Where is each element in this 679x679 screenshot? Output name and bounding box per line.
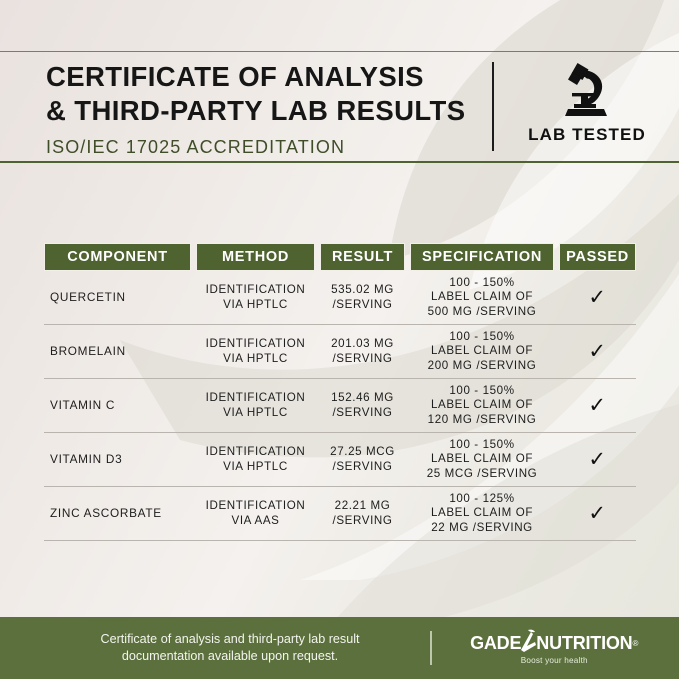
header-vertical-divider [492, 62, 494, 151]
analysis-results-table: COMPONENT METHOD RESULT SPECIFICATION PA… [44, 243, 636, 541]
cell-component: ZINC ASCORBATE [44, 487, 191, 541]
running-figure-icon [518, 629, 538, 653]
cell-method: IDENTIFICATION VIA HPTLC [196, 433, 315, 487]
page-title-line-2: & THIRD-PARTY LAB RESULTS [46, 94, 476, 128]
cell-result-line-1: 201.03 MG [331, 337, 394, 352]
cell-method: IDENTIFICATION VIA HPTLC [196, 271, 315, 325]
column-header-method: METHOD [196, 243, 315, 271]
table-row: QUERCETIN IDENTIFICATION VIA HPTLC 535.0… [44, 271, 636, 325]
cell-specification: 100 - 125% LABEL CLAIM OF 22 MG /SERVING [410, 487, 554, 541]
cell-component: BROMELAIN [44, 325, 191, 379]
cell-result-line-2: /SERVING [331, 298, 394, 313]
cell-result-line-1: 152.46 MG [331, 391, 394, 406]
cell-spec-line-2: LABEL CLAIM OF [428, 344, 537, 359]
cell-spec-line-2: LABEL CLAIM OF [431, 506, 533, 521]
cell-spec-line-2: LABEL CLAIM OF [427, 452, 538, 467]
cell-method-line-2: VIA HPTLC [206, 298, 306, 313]
check-icon: ✓ [588, 341, 606, 362]
cell-spec-line-1: 100 - 125% [431, 492, 533, 507]
cell-result-line-1: 22.21 MG [333, 499, 393, 514]
cell-specification: 100 - 150% LABEL CLAIM OF 25 MCG /SERVIN… [410, 433, 554, 487]
check-icon: ✓ [588, 503, 606, 524]
cell-result: 27.25 MCG /SERVING [320, 433, 405, 487]
cell-passed: ✓ [559, 379, 636, 433]
cell-method-line-1: IDENTIFICATION [206, 283, 306, 298]
cell-spec-line-1: 100 - 150% [428, 276, 537, 291]
cell-method-line-2: VIA HPTLC [206, 460, 306, 475]
table-header-row: COMPONENT METHOD RESULT SPECIFICATION PA… [44, 243, 636, 271]
cell-method-line-2: VIA HPTLC [206, 352, 306, 367]
cell-method-line-2: VIA AAS [206, 514, 306, 529]
certificate-page: CERTIFICATE OF ANALYSIS & THIRD-PARTY LA… [0, 0, 679, 679]
column-header-component: COMPONENT [44, 243, 191, 271]
cell-spec-line-3: 500 MG /SERVING [428, 305, 537, 320]
cell-result-line-2: /SERVING [331, 352, 394, 367]
cell-passed: ✓ [559, 325, 636, 379]
document-footer: Certificate of analysis and third-party … [0, 617, 679, 679]
footer-note-line-1: Certificate of analysis and third-party … [30, 631, 430, 648]
cell-spec-line-3: 25 MCG /SERVING [427, 467, 538, 482]
cell-result-line-1: 535.02 MG [331, 283, 394, 298]
cell-result-line-2: /SERVING [330, 460, 395, 475]
cell-passed: ✓ [559, 271, 636, 325]
brand-logo: GADE NUTRITION ® Boost your health [446, 631, 679, 665]
brand-tagline: Boost your health [521, 656, 588, 665]
check-icon: ✓ [588, 395, 606, 416]
cell-method-line-2: VIA HPTLC [206, 406, 306, 421]
cell-method-line-1: IDENTIFICATION [206, 445, 306, 460]
table-row: BROMELAIN IDENTIFICATION VIA HPTLC 201.0… [44, 325, 636, 379]
cell-specification: 100 - 150% LABEL CLAIM OF 120 MG /SERVIN… [410, 379, 554, 433]
cell-spec-line-2: LABEL CLAIM OF [428, 398, 537, 413]
check-icon: ✓ [588, 449, 606, 470]
title-block: CERTIFICATE OF ANALYSIS & THIRD-PARTY LA… [46, 60, 476, 158]
cell-spec-line-1: 100 - 150% [427, 438, 538, 453]
cell-result: 535.02 MG /SERVING [320, 271, 405, 325]
cell-method-line-1: IDENTIFICATION [206, 391, 306, 406]
column-header-specification: SPECIFICATION [410, 243, 554, 271]
cell-passed: ✓ [559, 433, 636, 487]
cell-method: IDENTIFICATION VIA HPTLC [196, 325, 315, 379]
table-row: VITAMIN D3 IDENTIFICATION VIA HPTLC 27.2… [44, 433, 636, 487]
cell-result: 201.03 MG /SERVING [320, 325, 405, 379]
cell-result: 152.46 MG /SERVING [320, 379, 405, 433]
footer-vertical-divider [430, 631, 432, 665]
footer-note: Certificate of analysis and third-party … [0, 631, 430, 665]
cell-result-line-2: /SERVING [333, 514, 393, 529]
cell-passed: ✓ [559, 487, 636, 541]
lab-tested-badge: LAB TESTED [512, 58, 662, 145]
page-title-line-1: CERTIFICATE OF ANALYSIS [46, 60, 476, 94]
cell-spec-line-3: 200 MG /SERVING [428, 359, 537, 374]
microscope-icon [558, 58, 616, 120]
cell-spec-line-3: 120 MG /SERVING [428, 413, 537, 428]
brand-logo-row: GADE NUTRITION ® [470, 631, 638, 655]
table-row: VITAMIN C IDENTIFICATION VIA HPTLC 152.4… [44, 379, 636, 433]
accreditation-subtitle: ISO/IEC 17025 ACCREDITATION [46, 136, 476, 158]
cell-result: 22.21 MG /SERVING [320, 487, 405, 541]
cell-spec-line-2: LABEL CLAIM OF [428, 290, 537, 305]
cell-spec-line-1: 100 - 150% [428, 384, 537, 399]
cell-result-line-1: 27.25 MCG [330, 445, 395, 460]
document-header: CERTIFICATE OF ANALYSIS & THIRD-PARTY LA… [0, 0, 679, 163]
cell-component: QUERCETIN [44, 271, 191, 325]
lab-tested-label: LAB TESTED [512, 125, 662, 145]
cell-spec-line-3: 22 MG /SERVING [431, 521, 533, 536]
brand-name-part-2: NUTRITION [536, 633, 632, 654]
cell-method-line-1: IDENTIFICATION [206, 337, 306, 352]
table-row: ZINC ASCORBATE IDENTIFICATION VIA AAS 22… [44, 487, 636, 541]
cell-result-line-2: /SERVING [331, 406, 394, 421]
cell-component: VITAMIN D3 [44, 433, 191, 487]
cell-method: IDENTIFICATION VIA AAS [196, 487, 315, 541]
check-icon: ✓ [588, 287, 606, 308]
brand-name-part-1: GADE [470, 633, 521, 654]
footer-note-line-2: documentation available upon request. [30, 648, 430, 665]
column-header-passed: PASSED [559, 243, 636, 271]
cell-specification: 100 - 150% LABEL CLAIM OF 200 MG /SERVIN… [410, 325, 554, 379]
cell-method-line-1: IDENTIFICATION [206, 499, 306, 514]
cell-specification: 100 - 150% LABEL CLAIM OF 500 MG /SERVIN… [410, 271, 554, 325]
cell-method: IDENTIFICATION VIA HPTLC [196, 379, 315, 433]
registered-mark: ® [633, 639, 639, 648]
cell-component: VITAMIN C [44, 379, 191, 433]
column-header-result: RESULT [320, 243, 405, 271]
cell-spec-line-1: 100 - 150% [428, 330, 537, 345]
